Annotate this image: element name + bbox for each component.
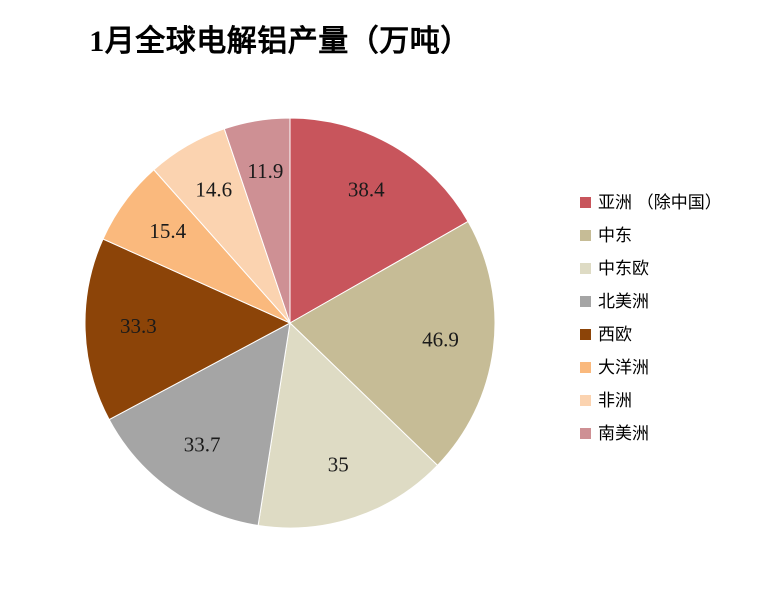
pie-chart-svg: 38.446.93533.733.315.414.611.9 — [0, 0, 560, 593]
legend-item[interactable]: 中东 — [580, 219, 770, 252]
legend-item-label: 非洲 — [598, 392, 632, 409]
legend-color-swatch — [580, 296, 591, 307]
legend-color-swatch — [580, 395, 591, 406]
pie-slice-label: 33.7 — [184, 432, 221, 456]
legend-color-swatch — [580, 230, 591, 241]
chart-legend: 亚洲 （除中国）中东中东欧北美洲西欧大洋洲非洲南美洲 — [580, 186, 770, 450]
legend-color-swatch — [580, 263, 591, 274]
legend-item[interactable]: 西欧 — [580, 318, 770, 351]
legend-item-label: 南美洲 — [598, 425, 649, 442]
legend-item-label: 大洋洲 — [598, 359, 649, 376]
legend-item-label: 亚洲 （除中国） — [598, 194, 722, 211]
pie-slice-label: 15.4 — [149, 219, 186, 243]
legend-item[interactable]: 南美洲 — [580, 417, 770, 450]
pie-slice-label: 33.3 — [120, 314, 157, 338]
legend-color-swatch — [580, 428, 591, 439]
pie-slice-label: 38.4 — [348, 178, 385, 202]
legend-item[interactable]: 中东欧 — [580, 252, 770, 285]
legend-item[interactable]: 北美洲 — [580, 285, 770, 318]
pie-plot-area: 38.446.93533.733.315.414.611.9 — [0, 0, 560, 593]
legend-item[interactable]: 非洲 — [580, 384, 770, 417]
legend-item-label: 北美洲 — [598, 293, 649, 310]
legend-item-label: 中东欧 — [598, 260, 649, 277]
pie-slice-label: 46.9 — [422, 328, 459, 352]
legend-item-label: 西欧 — [598, 326, 632, 343]
chart-root: 1月全球电解铝产量（万吨） 38.446.93533.733.315.414.6… — [0, 0, 776, 593]
pie-slice-label: 35 — [328, 453, 349, 477]
legend-color-swatch — [580, 329, 591, 340]
legend-item[interactable]: 亚洲 （除中国） — [580, 186, 770, 219]
legend-color-swatch — [580, 197, 591, 208]
legend-color-swatch — [580, 362, 591, 373]
legend-item-label: 中东 — [598, 227, 632, 244]
pie-slice-label: 11.9 — [247, 159, 283, 183]
legend-item[interactable]: 大洋洲 — [580, 351, 770, 384]
pie-slice-label: 14.6 — [195, 178, 232, 202]
